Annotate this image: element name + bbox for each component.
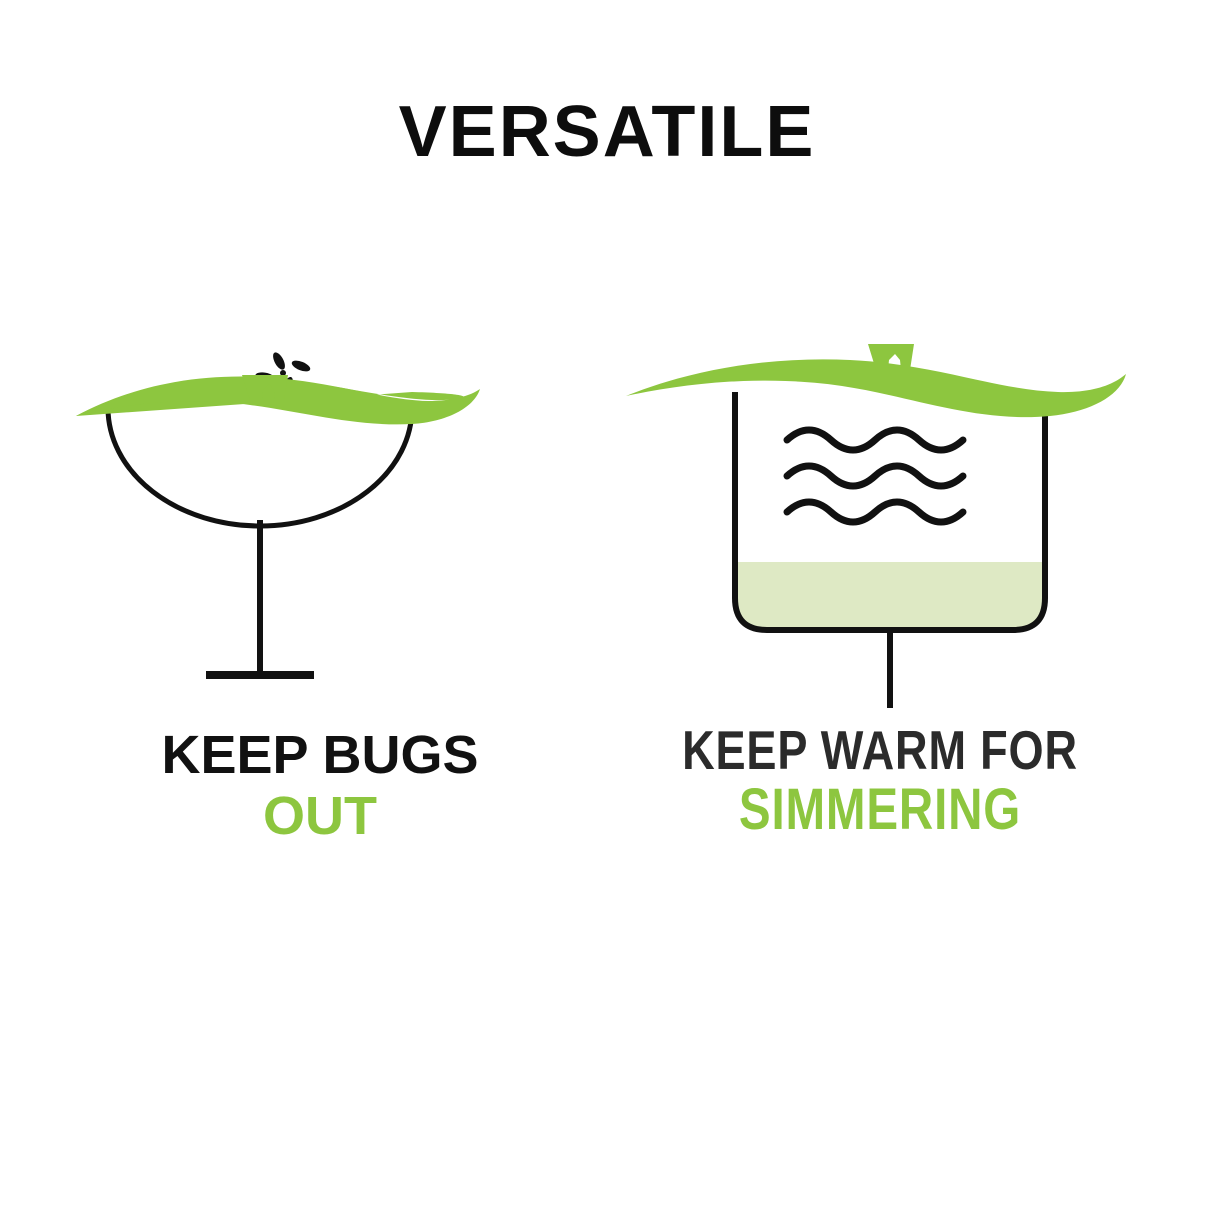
infographic-canvas: VERSATILE KEEP BUGS [0,0,1214,1214]
panel-keep-bugs-out: KEEP BUGS OUT [60,330,580,890]
steam-waves-icon [787,430,963,522]
simmering-pot-illustration [620,330,1140,730]
liquid-fill-icon [735,562,1045,630]
panel-keep-warm-for-simmering: KEEP WARM FOR SIMMERING [620,330,1140,890]
coupe-glass-illustration [60,330,580,730]
caption-line-2: OUT [60,789,580,844]
caption-line-2: SIMMERING [667,780,1093,839]
caption-line-1: KEEP WARM FOR [667,722,1093,778]
caption-keep-warm-for-simmering: KEEP WARM FOR SIMMERING [620,722,1140,839]
coupe-glass-bowl [108,408,412,526]
caption-keep-bugs-out: KEEP BUGS OUT [60,728,580,844]
page-title: VERSATILE [0,96,1214,168]
caption-line-1: KEEP BUGS [60,728,580,783]
